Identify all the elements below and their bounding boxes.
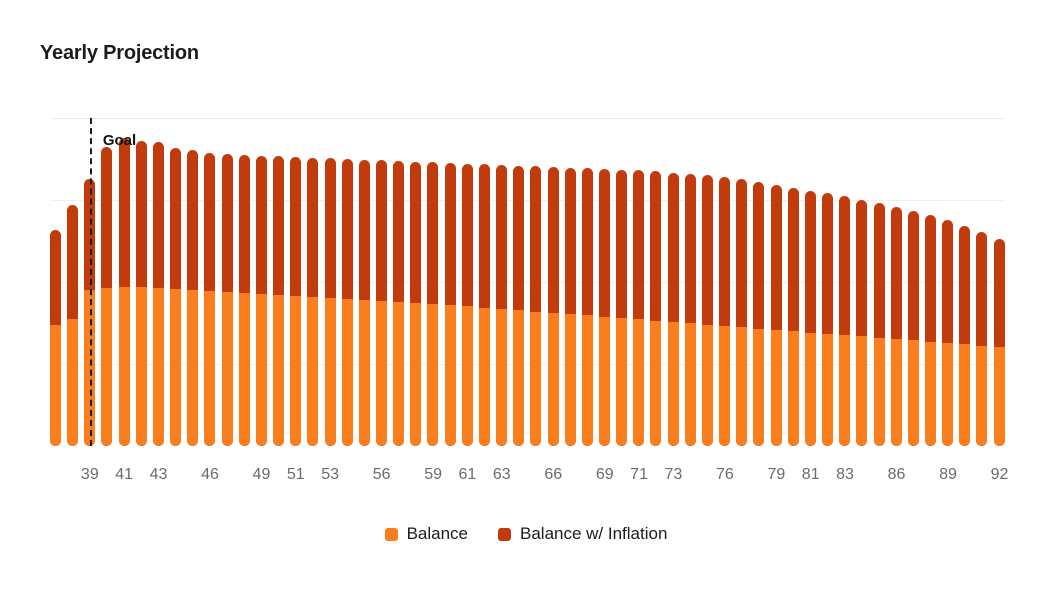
bar-segment-inflation (908, 211, 919, 446)
bar-segment-balance (376, 301, 387, 446)
bar-column[interactable] (994, 239, 1005, 446)
x-axis-tick-label: 92 (991, 466, 1009, 484)
bar-column[interactable] (445, 163, 456, 446)
bar-segment-inflation (616, 170, 627, 447)
bar-segment-inflation (685, 174, 696, 446)
x-axis-tick-label: 41 (115, 466, 133, 484)
bar-segment-balance (222, 292, 233, 446)
bar-segment-balance (410, 303, 421, 446)
bar-column[interactable] (530, 166, 541, 446)
bar-segment-inflation (67, 205, 78, 446)
bar-segment-inflation (513, 166, 524, 446)
bar-segment-balance (668, 322, 679, 446)
x-axis-tick-label: 56 (373, 466, 391, 484)
x-axis-tick-label: 53 (321, 466, 339, 484)
bar-segment-balance (685, 323, 696, 446)
bar-column[interactable] (753, 182, 764, 446)
bar-column[interactable] (805, 191, 816, 447)
bar-segment-inflation (445, 163, 456, 446)
bar-column[interactable] (788, 188, 799, 446)
bar-segment-inflation (530, 166, 541, 446)
x-axis-tick-label: 61 (459, 466, 477, 484)
bar-segment-inflation (136, 141, 147, 446)
bar-column[interactable] (479, 164, 490, 446)
bar-segment-balance (994, 347, 1005, 446)
bar-segment-balance (290, 296, 301, 446)
x-axis-tick-label: 81 (802, 466, 820, 484)
bar-segment-balance (136, 287, 147, 446)
bar-segment-inflation (719, 177, 730, 446)
x-axis-tick-label: 71 (630, 466, 648, 484)
bar-column[interactable] (925, 215, 936, 446)
bar-column[interactable] (599, 169, 610, 446)
bar-segment-inflation (170, 148, 181, 446)
bar-segment-balance (496, 309, 507, 446)
bar-column[interactable] (325, 158, 336, 446)
bar-segment-inflation (204, 153, 215, 446)
bar-column[interactable] (959, 226, 970, 446)
bar-column[interactable] (376, 160, 387, 446)
bar-segment-inflation (874, 203, 885, 446)
bar-segment-inflation (50, 230, 61, 446)
bar-segment-inflation (307, 158, 318, 446)
bar-column[interactable] (771, 185, 782, 446)
bar-column[interactable] (822, 193, 833, 446)
bar-segment-inflation (119, 138, 130, 446)
bar-column[interactable] (650, 171, 661, 446)
bar-column[interactable] (359, 160, 370, 446)
bar-segment-inflation (325, 158, 336, 446)
bar-segment-balance (445, 305, 456, 446)
bar-segment-balance (891, 339, 902, 446)
x-axis: 3941434649515356596163666971737679818386… (50, 466, 1005, 496)
bar-segment-balance (513, 310, 524, 446)
bar-column[interactable] (187, 150, 198, 446)
bar-segment-balance (805, 333, 816, 446)
legend-swatch-icon (498, 528, 511, 541)
bar-column[interactable] (204, 153, 215, 446)
bar-column[interactable] (496, 165, 507, 446)
bar-column[interactable] (839, 196, 850, 446)
bar-segment-balance (153, 288, 164, 446)
bar-segment-balance (204, 291, 215, 446)
bar-column[interactable] (410, 162, 421, 446)
x-axis-tick-label: 86 (888, 466, 906, 484)
bar-segment-inflation (805, 191, 816, 447)
bar-segment-balance (976, 346, 987, 446)
bar-segment-inflation (565, 168, 576, 446)
bar-column[interactable] (942, 220, 953, 446)
bar-segment-balance (325, 298, 336, 446)
bar-segment-balance (170, 289, 181, 446)
bar-segment-balance (187, 290, 198, 446)
legend-item[interactable]: Balance w/ Inflation (498, 524, 667, 544)
x-axis-tick-label: 83 (836, 466, 854, 484)
bar-column[interactable] (222, 154, 233, 446)
bar-segment-inflation (239, 155, 250, 446)
bar-segment-balance (101, 288, 112, 446)
bar-segment-balance (702, 325, 713, 446)
chart-card: Yearly Projection Goal 39414346495153565… (0, 0, 1052, 604)
bar-column[interactable] (668, 173, 679, 446)
bar-segment-inflation (753, 182, 764, 446)
bar-segment-inflation (376, 160, 387, 446)
bar-column[interactable] (239, 155, 250, 446)
bar-segment-balance (942, 343, 953, 446)
bar-segment-balance (771, 330, 782, 446)
bar-column[interactable] (273, 156, 284, 446)
x-axis-tick-label: 51 (287, 466, 305, 484)
bar-column[interactable] (256, 156, 267, 446)
bar-segment-balance (753, 329, 764, 446)
bar-segment-inflation (427, 162, 438, 446)
bar-column[interactable] (393, 161, 404, 446)
bar-segment-inflation (891, 207, 902, 446)
bar-segment-balance (427, 304, 438, 446)
bar-segment-inflation (153, 142, 164, 446)
bar-segment-balance (565, 314, 576, 446)
bar-column[interactable] (908, 211, 919, 446)
bar-column[interactable] (685, 174, 696, 446)
bar-segment-inflation (187, 150, 198, 446)
x-axis-tick-label: 49 (253, 466, 271, 484)
bar-segment-balance (273, 295, 284, 446)
bar-segment-balance (256, 294, 267, 446)
bar-segment-balance (925, 342, 936, 446)
x-axis-tick-label: 63 (493, 466, 511, 484)
bar-segment-balance (342, 299, 353, 446)
bar-column[interactable] (119, 138, 130, 446)
bar-segment-balance (959, 344, 970, 446)
bar-column[interactable] (513, 166, 524, 446)
bar-segment-balance (856, 336, 867, 446)
bar-column[interactable] (307, 158, 318, 446)
goal-marker-line (90, 118, 92, 446)
bar-column[interactable] (633, 170, 644, 446)
x-axis-tick-label: 73 (664, 466, 682, 484)
bar-segment-balance (548, 313, 559, 446)
legend-label: Balance w/ Inflation (520, 524, 667, 544)
bar-segment-balance (822, 334, 833, 446)
bar-segment-inflation (462, 164, 473, 446)
bar-column[interactable] (736, 179, 747, 446)
x-axis-tick-label: 39 (81, 466, 99, 484)
bar-segment-inflation (788, 188, 799, 446)
bar-segment-balance (633, 319, 644, 446)
bar-segment-inflation (771, 185, 782, 446)
bar-segment-inflation (582, 168, 593, 446)
legend-item[interactable]: Balance (385, 524, 468, 544)
bar-segment-balance (599, 317, 610, 446)
bar-segment-balance (719, 326, 730, 446)
bar-column[interactable] (719, 177, 730, 446)
bar-column[interactable] (427, 162, 438, 446)
bar-segment-inflation (599, 169, 610, 446)
bar-segment-balance (67, 319, 78, 446)
bar-column[interactable] (976, 232, 987, 446)
bar-segment-balance (239, 293, 250, 446)
bar-segment-inflation (479, 164, 490, 446)
plot-area: Goal (50, 118, 1005, 446)
bar-column[interactable] (136, 141, 147, 446)
bar-column[interactable] (462, 164, 473, 446)
bar-segment-inflation (342, 159, 353, 446)
bar-segment-balance (393, 302, 404, 446)
bar-segment-inflation (496, 165, 507, 446)
bar-column[interactable] (290, 157, 301, 446)
x-axis-tick-label: 89 (939, 466, 957, 484)
bar-segment-inflation (976, 232, 987, 446)
bar-segment-balance (736, 327, 747, 446)
bar-segment-inflation (273, 156, 284, 446)
legend-swatch-icon (385, 528, 398, 541)
bar-column[interactable] (616, 170, 627, 447)
bar-segment-balance (359, 300, 370, 446)
bar-column[interactable] (50, 230, 61, 446)
x-axis-tick-label: 76 (716, 466, 734, 484)
bar-segment-inflation (222, 154, 233, 446)
bar-segment-balance (839, 335, 850, 446)
bar-segment-inflation (633, 170, 644, 446)
bar-segment-inflation (925, 215, 936, 446)
bar-column[interactable] (101, 147, 112, 446)
bar-segment-inflation (290, 157, 301, 446)
bar-column[interactable] (856, 200, 867, 446)
bar-column[interactable] (891, 207, 902, 446)
x-axis-tick-label: 43 (150, 466, 168, 484)
bar-column[interactable] (342, 159, 353, 446)
bar-segment-balance (650, 321, 661, 446)
x-axis-tick-label: 66 (544, 466, 562, 484)
bar-segment-inflation (668, 173, 679, 446)
legend-label: Balance (407, 524, 468, 544)
bar-segment-inflation (959, 226, 970, 446)
bar-segment-balance (908, 340, 919, 446)
bar-segment-balance (616, 318, 627, 446)
bar-segment-inflation (256, 156, 267, 446)
bar-segment-inflation (736, 179, 747, 446)
bar-segment-balance (50, 325, 61, 446)
bar-segment-balance (874, 338, 885, 446)
bar-column[interactable] (582, 168, 593, 446)
bar-segment-inflation (942, 220, 953, 446)
bar-segment-inflation (393, 161, 404, 446)
x-axis-tick-label: 69 (596, 466, 614, 484)
bar-segment-inflation (410, 162, 421, 446)
bar-segment-inflation (994, 239, 1005, 446)
x-axis-tick-label: 59 (424, 466, 442, 484)
bar-series-container (50, 118, 1005, 446)
bar-column[interactable] (153, 142, 164, 446)
bar-segment-balance (582, 315, 593, 446)
x-axis-tick-label: 46 (201, 466, 219, 484)
bar-segment-balance (788, 331, 799, 446)
bar-segment-balance (462, 306, 473, 446)
bar-segment-inflation (702, 175, 713, 446)
bar-column[interactable] (702, 175, 713, 446)
bar-segment-inflation (101, 147, 112, 446)
bar-segment-inflation (359, 160, 370, 446)
bar-segment-balance (307, 297, 318, 446)
chart-legend: BalanceBalance w/ Inflation (0, 524, 1052, 544)
bar-column[interactable] (565, 168, 576, 446)
bar-segment-balance (479, 308, 490, 446)
bar-column[interactable] (67, 205, 78, 446)
bar-segment-balance (530, 312, 541, 446)
bar-column[interactable] (548, 167, 559, 446)
bar-column[interactable] (874, 203, 885, 446)
bar-segment-inflation (548, 167, 559, 446)
goal-marker-label: Goal (103, 132, 136, 149)
bar-segment-inflation (856, 200, 867, 446)
bar-segment-inflation (650, 171, 661, 446)
bar-segment-inflation (822, 193, 833, 446)
bar-segment-balance (119, 287, 130, 446)
page-title: Yearly Projection (40, 42, 199, 65)
x-axis-tick-label: 79 (767, 466, 785, 484)
bar-segment-inflation (839, 196, 850, 446)
bar-column[interactable] (170, 148, 181, 446)
